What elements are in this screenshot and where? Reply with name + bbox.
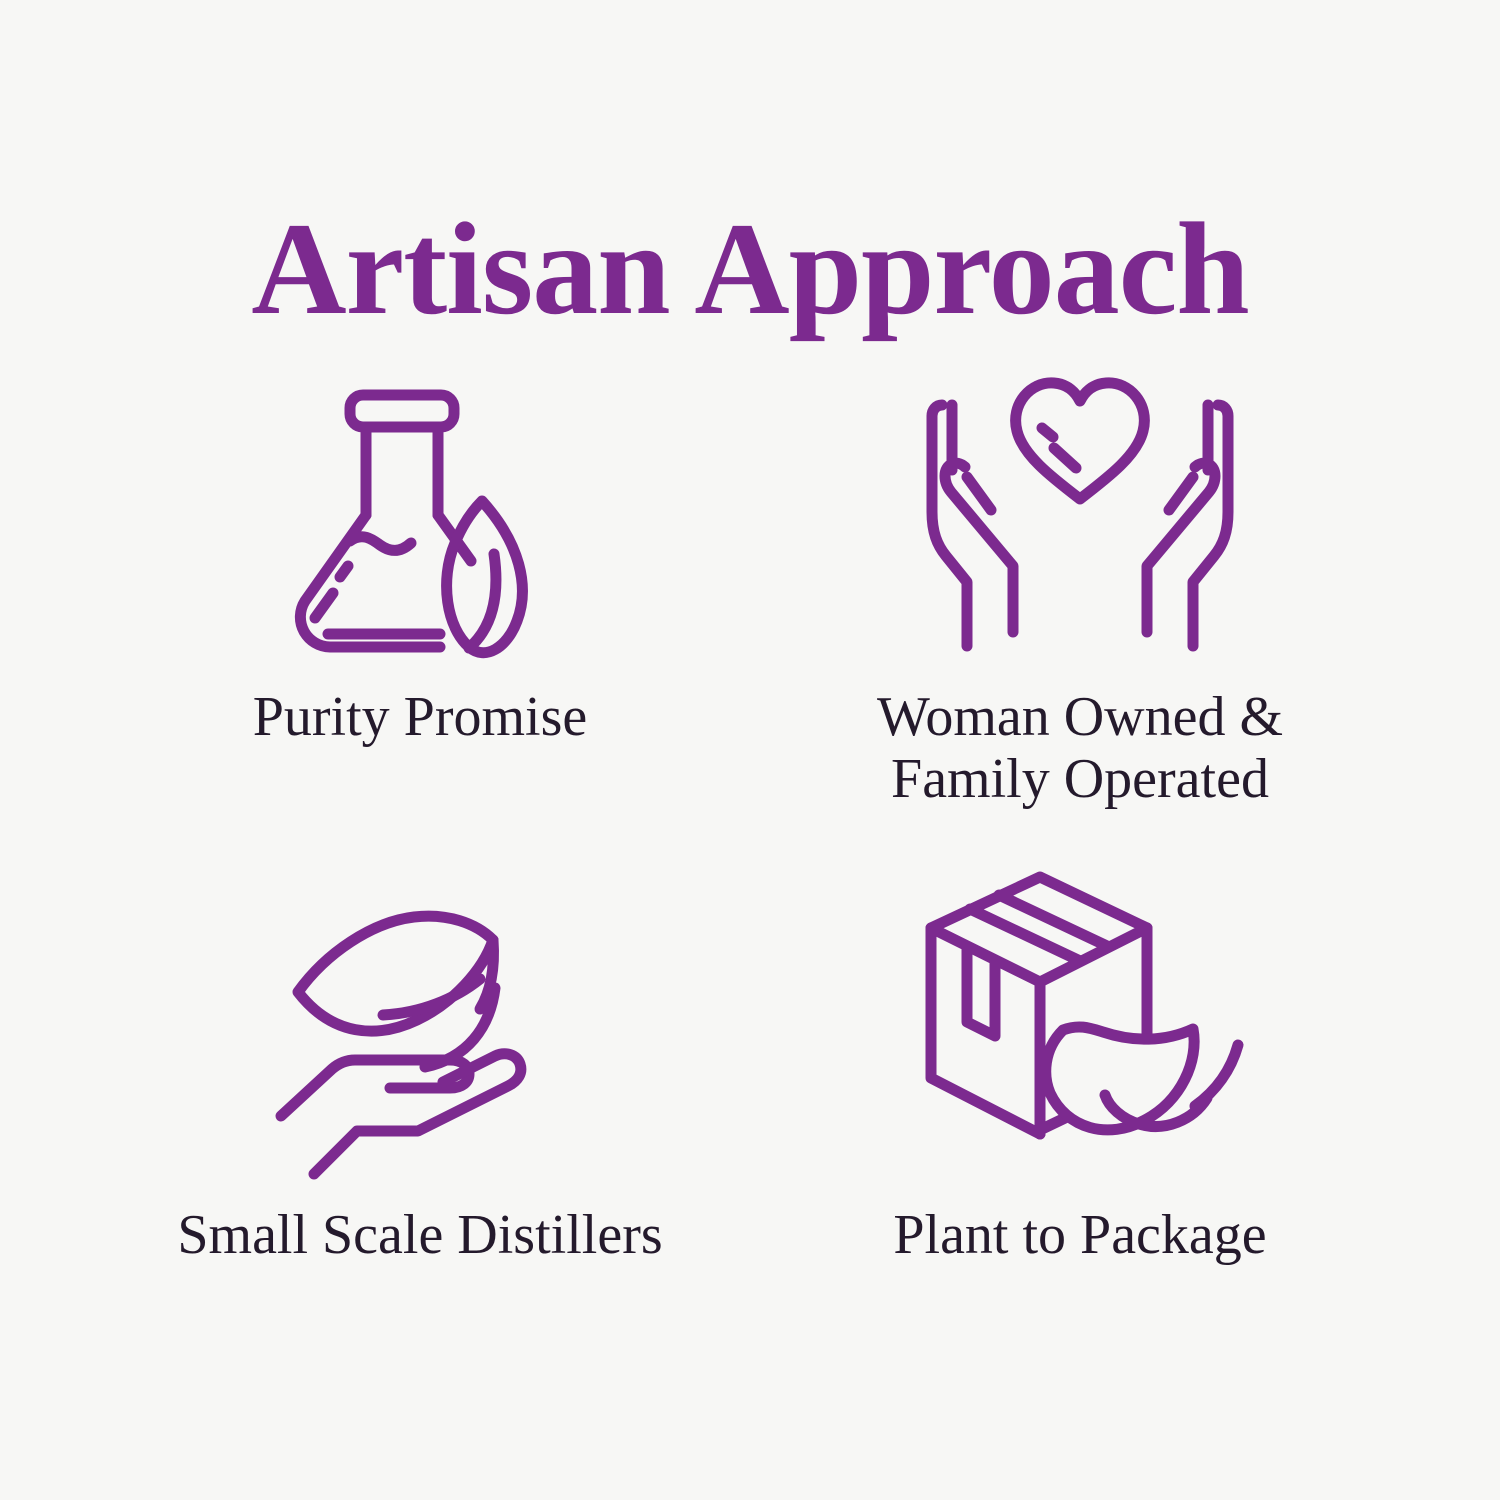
- feature-label: Woman Owned & Family Operated: [877, 686, 1283, 810]
- page-title: Artisan Approach: [0, 194, 1500, 344]
- feature-item-plant-to-package[interactable]: Plant to Package: [750, 860, 1410, 1360]
- artisan-approach-panel: Artisan Approach: [0, 0, 1500, 1500]
- package-box-leaf-icon: [915, 860, 1245, 1160]
- feature-label: Purity Promise: [253, 686, 587, 748]
- feature-item-small-scale-distillers[interactable]: Small Scale Distillers: [90, 860, 750, 1360]
- feature-item-woman-owned[interactable]: Woman Owned & Family Operated: [750, 360, 1410, 860]
- flask-leaf-icon: [275, 360, 565, 660]
- leaf-in-hand-icon: [275, 860, 565, 1160]
- feature-label: Small Scale Distillers: [177, 1204, 662, 1266]
- feature-label: Plant to Package: [893, 1204, 1266, 1266]
- hands-holding-heart-icon: [915, 360, 1245, 660]
- feature-item-purity-promise[interactable]: Purity Promise: [90, 360, 750, 860]
- feature-grid: Purity Promise: [90, 360, 1410, 1360]
